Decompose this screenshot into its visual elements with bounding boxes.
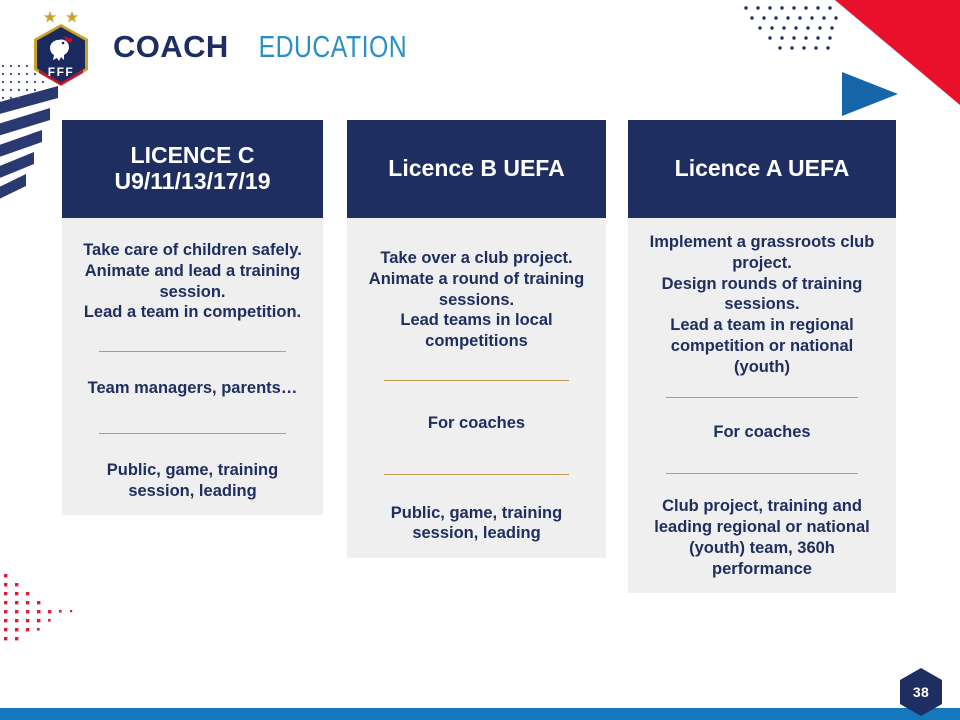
licence-competencies-text: Take care of children safely. Animate an… xyxy=(76,240,309,323)
licence-card-licence-a-uefa[interactable]: Licence A UEFA Implement a grassroots cl… xyxy=(628,120,896,593)
licence-audience-text: Team managers, parents… xyxy=(76,378,309,399)
slide-canvas: FFF COACH EDUCATION LICENCE C U9/11/13/1… xyxy=(0,0,960,720)
licence-card-licence-c[interactable]: LICENCE C U9/11/13/17/19 Take care of ch… xyxy=(62,120,323,515)
section-divider xyxy=(384,380,569,381)
licence-card-title: LICENCE C U9/11/13/17/19 xyxy=(114,143,270,195)
section-divider xyxy=(666,473,858,474)
section-divider xyxy=(384,474,569,475)
licence-card-licence-b-uefa[interactable]: Licence B UEFA Take over a club project.… xyxy=(347,120,606,558)
page-number-label: 38 xyxy=(913,684,929,700)
licence-card-header: Licence A UEFA xyxy=(628,120,896,218)
section-divider xyxy=(99,351,285,352)
licence-card-body: Implement a grassroots club project. Des… xyxy=(628,218,896,593)
licence-card-body: Take over a club project. Animate a roun… xyxy=(347,218,606,558)
section-divider xyxy=(99,433,285,434)
licence-competencies-text: Implement a grassroots club project. Des… xyxy=(642,232,882,377)
licence-card-header: Licence B UEFA xyxy=(347,120,606,218)
licence-cards-container: LICENCE C U9/11/13/17/19 Take care of ch… xyxy=(0,0,960,720)
licence-audience-text: For coaches xyxy=(642,422,882,443)
licence-scope-text: Public, game, training session, leading xyxy=(361,503,592,545)
licence-audience-text: For coaches xyxy=(361,413,592,434)
licence-card-title: Licence A UEFA xyxy=(675,156,850,182)
licence-card-body: Take care of children safely. Animate an… xyxy=(62,218,323,515)
licence-card-title: Licence B UEFA xyxy=(388,156,564,182)
licence-card-header: LICENCE C U9/11/13/17/19 xyxy=(62,120,323,218)
licence-scope-text: Club project, training and leading regio… xyxy=(642,496,882,579)
section-divider xyxy=(666,397,858,398)
licence-scope-text: Public, game, training session, leading xyxy=(76,460,309,502)
licence-competencies-text: Take over a club project. Animate a roun… xyxy=(361,248,592,352)
